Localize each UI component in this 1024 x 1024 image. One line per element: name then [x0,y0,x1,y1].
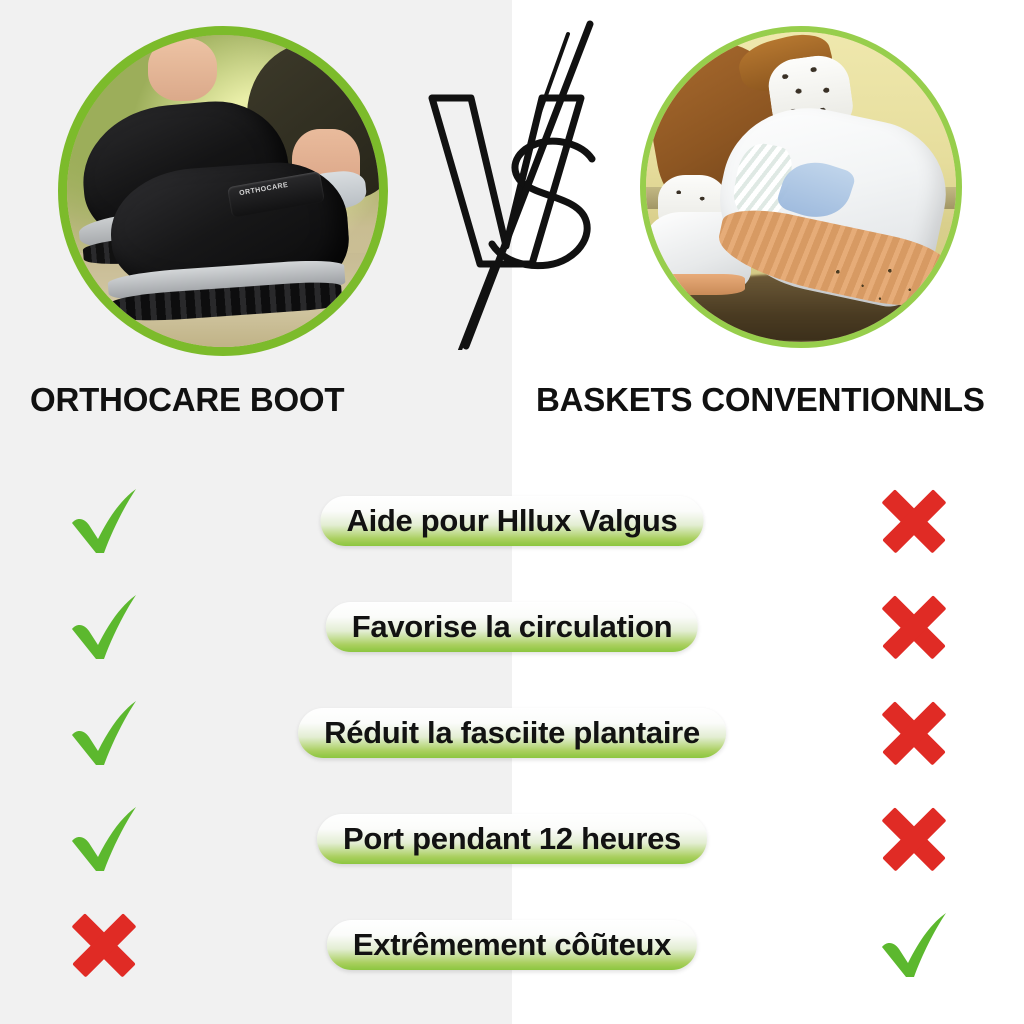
title-baskets-conventionnls: BASKETS CONVENTIONNLS [536,372,985,428]
feature-pill: Favorise la circulation [326,602,698,652]
comparison-row: Favorise la circulation [0,574,1024,680]
check-icon [62,691,146,775]
check-icon [62,797,146,881]
feature-label: Aide pour Hllux Valgus [346,505,677,536]
check-icon [62,585,146,669]
check-icon [62,479,146,563]
cross-icon [872,585,956,669]
feature-label: Port pendant 12 heures [343,823,681,854]
feature-pill: Réduit la fasciite plantaire [298,708,726,758]
cross-icon [62,903,146,987]
feature-label: Favorise la circulation [352,611,672,642]
comparison-poster: ORTHOCARE [0,0,1024,1024]
comparison-rows: Aide pour Hllux Valgus Favorise la circu… [0,468,1024,998]
feature-pill: Port pendant 12 heures [317,814,707,864]
check-icon [872,903,956,987]
feature-label: Réduit la fasciite plantaire [324,717,700,748]
product-photo-conventional-sneaker [640,26,962,348]
cross-icon [872,797,956,881]
comparison-row: Réduit la fasciite plantaire [0,680,1024,786]
comparison-row: Extrêmement côũteux [0,892,1024,998]
vs-badge [414,20,624,350]
title-orthocare-boot: ORTHOCARE BOOT [30,372,344,428]
comparison-row: Port pendant 12 heures [0,786,1024,892]
cross-icon [872,691,956,775]
product-photo-orthocare-boot: ORTHOCARE [58,26,388,356]
cross-icon [872,479,956,563]
column-titles: ORTHOCARE BOOT BASKETS CONVENTIONNLS [0,372,1024,428]
feature-pill: Aide pour Hllux Valgus [320,496,703,546]
comparison-row: Aide pour Hllux Valgus [0,468,1024,574]
feature-label: Extrêmement côũteux [353,929,671,960]
feature-pill: Extrêmement côũteux [327,920,697,970]
